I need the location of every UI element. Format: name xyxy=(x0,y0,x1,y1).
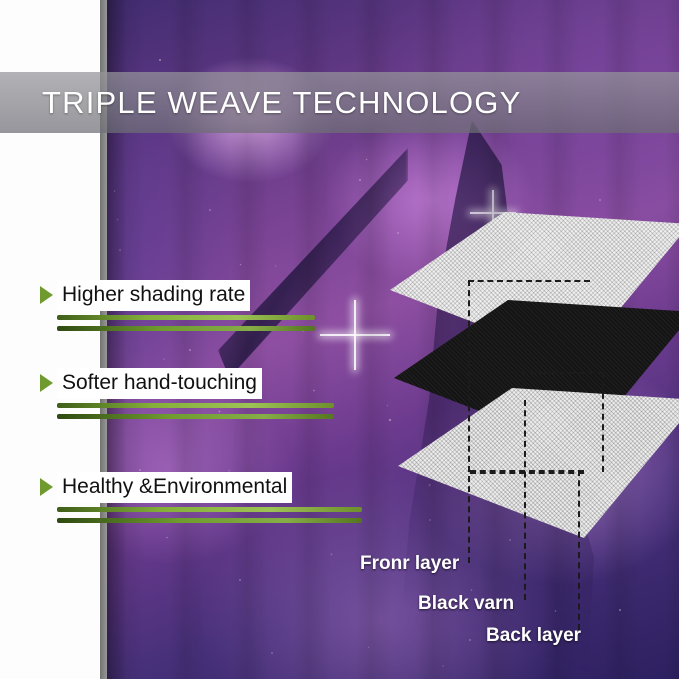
feature-label-3: Healthy &Environmental xyxy=(57,472,292,503)
callout-dashed-box-front xyxy=(468,280,590,387)
feature-item-3: Healthy &Environmental xyxy=(40,472,292,503)
underline-bar xyxy=(57,315,315,320)
title-banner: TRIPLE WEAVE TECHNOLOGY xyxy=(0,72,679,133)
layer-label-black-yarn: Black varn xyxy=(418,593,514,615)
banner-title: TRIPLE WEAVE TECHNOLOGY xyxy=(42,85,522,121)
layer-label-back: Back layer xyxy=(486,625,581,647)
feature-item-2: Softer hand-touching xyxy=(40,368,262,399)
underline-bar xyxy=(57,507,362,512)
triangle-right-icon xyxy=(40,286,53,304)
callout-leader-line-back xyxy=(578,470,580,630)
callout-dashed-box-back xyxy=(470,470,584,474)
underline-bar xyxy=(57,414,334,419)
feature-underline-1 xyxy=(57,315,315,337)
feature-underline-2 xyxy=(57,403,334,425)
underline-bar xyxy=(57,518,362,523)
callout-leader-line-front xyxy=(468,385,470,563)
triangle-right-icon xyxy=(40,374,53,392)
feature-label-1: Higher shading rate xyxy=(57,280,250,311)
callout-dashed-box-black xyxy=(520,372,604,472)
feature-label-2: Softer hand-touching xyxy=(57,368,262,399)
feature-underline-3 xyxy=(57,507,362,529)
underline-bar xyxy=(57,326,315,331)
layer-label-front: Fronr layer xyxy=(360,553,459,575)
triangle-right-icon xyxy=(40,478,53,496)
callout-leader-line-black xyxy=(524,400,526,600)
feature-item-1: Higher shading rate xyxy=(40,280,250,311)
product-feature-image: TRIPLE WEAVE TECHNOLOGY Higher shading r… xyxy=(0,0,679,679)
underline-bar xyxy=(57,403,334,408)
